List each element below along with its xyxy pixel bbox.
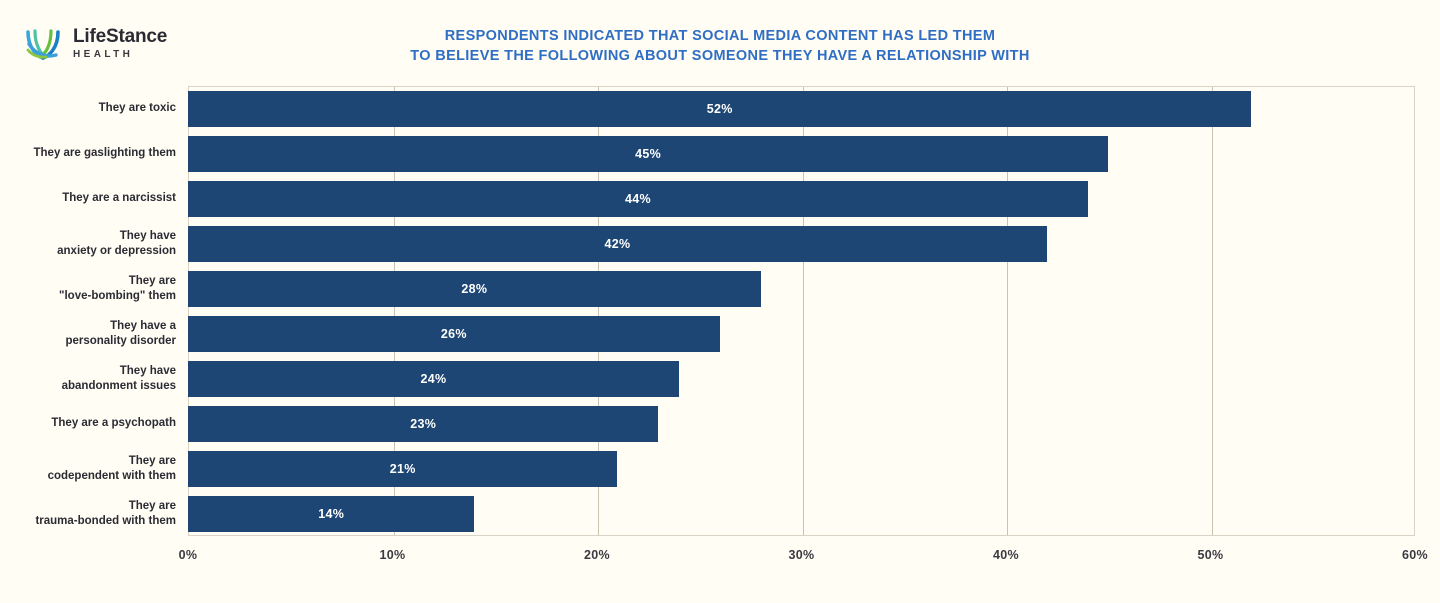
y-axis-label: They aretrauma-bonded with them: [0, 491, 176, 536]
chart-title-line-1: RESPONDENTS INDICATED THAT SOCIAL MEDIA …: [0, 26, 1440, 46]
bar[interactable]: 26%: [188, 316, 720, 352]
y-axis-label: They are"love-bombing" them: [0, 266, 176, 311]
bar-row[interactable]: 45%: [188, 136, 1415, 172]
y-axis-label: They arecodependent with them: [0, 446, 176, 491]
y-axis-label-line: They have: [120, 229, 176, 244]
x-axis-tick-label: 0%: [179, 548, 198, 562]
y-axis-label-line: trauma-bonded with them: [35, 514, 176, 529]
bar-value-label: 44%: [625, 192, 651, 206]
y-axis-label-line: They are a psychopath: [51, 416, 176, 431]
y-axis-label-line: They are: [129, 274, 176, 289]
y-axis-label: They haveabandonment issues: [0, 356, 176, 401]
y-axis-label-line: They have: [120, 364, 176, 379]
y-axis-label-line: personality disorder: [65, 334, 176, 349]
bar-row[interactable]: 23%: [188, 406, 1415, 442]
y-axis-label-line: They are toxic: [99, 101, 176, 116]
y-axis-label-line: They are: [129, 499, 176, 514]
y-axis-label: They are a narcissist: [0, 176, 176, 221]
y-axis-label: They have apersonality disorder: [0, 311, 176, 356]
y-axis-label-line: They are: [129, 454, 176, 469]
y-axis-label-line: codependent with them: [48, 469, 176, 484]
y-axis-label-line: They have a: [110, 319, 176, 334]
y-axis-label: They haveanxiety or depression: [0, 221, 176, 266]
bar-row[interactable]: 14%: [188, 496, 1415, 532]
bar[interactable]: 23%: [188, 406, 658, 442]
y-axis-label: They are a psychopath: [0, 401, 176, 446]
bar-row[interactable]: 42%: [188, 226, 1415, 262]
y-axis-category-labels: They are toxicThey are gaslighting themT…: [0, 86, 176, 536]
bar-value-label: 21%: [390, 462, 416, 476]
bar-value-label: 24%: [420, 372, 446, 386]
y-axis-label: They are gaslighting them: [0, 131, 176, 176]
bar[interactable]: 42%: [188, 226, 1047, 262]
y-axis-label: They are toxic: [0, 86, 176, 131]
x-axis-tick-label: 20%: [584, 548, 610, 562]
chart-title: RESPONDENTS INDICATED THAT SOCIAL MEDIA …: [0, 26, 1440, 66]
bar[interactable]: 28%: [188, 271, 761, 307]
bar-row[interactable]: 21%: [188, 451, 1415, 487]
page-header: LifeStance HEALTH RESPONDENTS INDICATED …: [0, 0, 1440, 82]
bar-value-label: 28%: [461, 282, 487, 296]
y-axis-label-line: They are a narcissist: [62, 191, 176, 206]
x-axis-tick-label: 50%: [1198, 548, 1224, 562]
x-axis-ticks: 0%10%20%30%40%50%60%: [188, 536, 1415, 576]
bar-row[interactable]: 52%: [188, 91, 1415, 127]
x-axis-tick-label: 30%: [789, 548, 815, 562]
bar-value-label: 45%: [635, 147, 661, 161]
bar[interactable]: 24%: [188, 361, 679, 397]
bar-value-label: 14%: [318, 507, 344, 521]
bar-value-label: 52%: [707, 102, 733, 116]
x-axis-tick-label: 10%: [380, 548, 406, 562]
bar[interactable]: 52%: [188, 91, 1251, 127]
bar-value-label: 23%: [410, 417, 436, 431]
y-axis-label-line: abandonment issues: [62, 379, 176, 394]
bar[interactable]: 21%: [188, 451, 617, 487]
bar-series: 52%45%44%42%28%26%24%23%21%14%: [188, 86, 1415, 536]
x-axis-tick-label: 40%: [993, 548, 1019, 562]
bar[interactable]: 14%: [188, 496, 474, 532]
y-axis-label-line: "love-bombing" them: [59, 289, 176, 304]
bar-value-label: 26%: [441, 327, 467, 341]
bar[interactable]: 45%: [188, 136, 1108, 172]
bar-value-label: 42%: [604, 237, 630, 251]
chart-title-line-2: TO BELIEVE THE FOLLOWING ABOUT SOMEONE T…: [0, 46, 1440, 66]
bar[interactable]: 44%: [188, 181, 1088, 217]
y-axis-label-line: They are gaslighting them: [34, 146, 177, 161]
y-axis-label-line: anxiety or depression: [57, 244, 176, 259]
bar-row[interactable]: 44%: [188, 181, 1415, 217]
bar-row[interactable]: 24%: [188, 361, 1415, 397]
bar-row[interactable]: 26%: [188, 316, 1415, 352]
x-axis-tick-label: 60%: [1402, 548, 1428, 562]
bar-row[interactable]: 28%: [188, 271, 1415, 307]
